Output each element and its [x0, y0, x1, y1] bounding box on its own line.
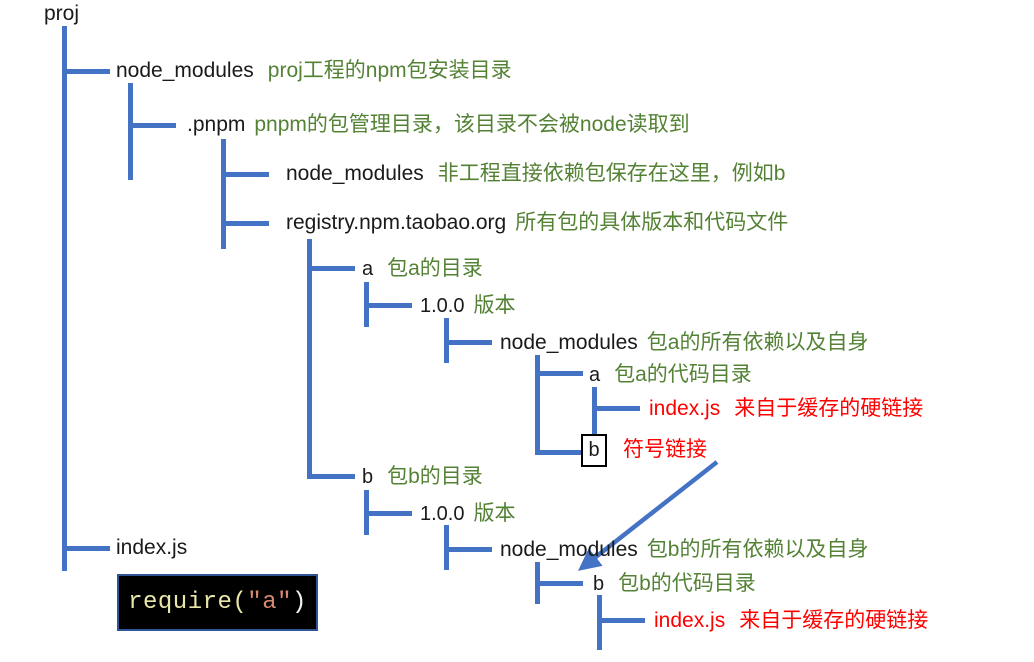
node-label-b-code: b	[593, 573, 604, 595]
tree-line-to-b-symlink	[535, 450, 583, 455]
tree-line-proj-trunk	[62, 26, 67, 571]
tree-line-to-index-b	[597, 618, 645, 623]
tree-line-to-a-code	[535, 371, 583, 376]
node-label-registry: registry.npm.taobao.org	[286, 211, 506, 234]
node-label-version-a: 1.0.0	[420, 295, 464, 317]
tree-node-b-code: b包b的代码目录	[593, 573, 756, 594]
tree-line-to-version-a	[364, 303, 412, 308]
tree-node-registry: registry.npm.taobao.org所有包的具体版本和代码文件	[286, 212, 788, 233]
node-label-node-modules-b: node_modules	[500, 538, 638, 561]
tree-line-registry-trunk	[307, 239, 312, 479]
tree-node-node-modules-pnpm: node_modules非工程直接依赖包保存在这里，例如b	[286, 163, 785, 184]
node-note-node-modules-b: 包b的所有依赖以及自身	[647, 538, 869, 561]
node-label-proj: proj	[44, 2, 79, 25]
tree-line-to-node-modules-root	[62, 69, 110, 74]
node-note-index-a: 来自于缓存的硬链接	[734, 397, 923, 420]
code-token-close-paren: )	[292, 589, 307, 616]
node-note-pnpm: pnpm的包管理目录，该目录不会被node读取到	[254, 113, 689, 136]
tree-line-to-node-modules-b	[444, 547, 492, 552]
tree-line-to-pnpm	[128, 123, 176, 128]
tree-node-proj: proj	[44, 3, 79, 24]
tree-node-pnpm: .pnpmpnpm的包管理目录，该目录不会被node读取到	[187, 114, 690, 135]
node-note-node-modules-root: proj工程的npm包安装目录	[268, 59, 512, 82]
tree-line-to-index-a	[592, 406, 640, 411]
node-note-version-a: 版本	[473, 294, 515, 317]
code-block-require: require("a")	[117, 574, 318, 631]
tree-line-to-node-modules-a	[444, 340, 492, 345]
node-label-index-root: index.js	[116, 536, 187, 559]
node-note-pkg-b: 包b的目录	[387, 465, 483, 488]
node-label-pkg-a: a	[362, 258, 373, 280]
node-note-b-symlink: 符号链接	[623, 438, 707, 461]
tree-node-version-b: 1.0.0版本	[420, 503, 515, 524]
node-label-index-b: index.js	[654, 609, 725, 632]
tree-node-b-symlink-note: 符号链接	[623, 439, 707, 460]
tree-node-index-a: index.js来自于缓存的硬链接	[649, 398, 923, 419]
node-label-a-code: a	[589, 364, 600, 386]
node-note-a-code: 包a的代码目录	[614, 363, 752, 386]
node-note-pkg-a: 包a的目录	[387, 257, 483, 280]
tree-node-node-modules-a: node_modules包a的所有依赖以及自身	[500, 332, 868, 353]
tree-node-version-a: 1.0.0版本	[420, 295, 515, 316]
tree-line-to-index-root	[62, 546, 110, 551]
node-label-pkg-b: b	[362, 466, 373, 488]
tree-node-a-code: a包a的代码目录	[589, 364, 752, 385]
node-label-index-a: index.js	[649, 397, 720, 420]
tree-node-pkg-b: b包b的目录	[362, 466, 483, 487]
tree-node-index-b: index.js来自于缓存的硬链接	[654, 610, 928, 631]
node-label-node-modules-a: node_modules	[500, 331, 638, 354]
tree-line-to-pkg-b	[307, 474, 355, 479]
code-token-string: "a"	[247, 589, 292, 616]
code-token-function: require(	[128, 589, 247, 616]
node-label-b-symlink: b	[588, 439, 599, 462]
node-note-version-b: 版本	[473, 502, 515, 525]
tree-line-to-pkg-a	[307, 266, 355, 271]
tree-line-to-node-modules-pnpm	[221, 172, 269, 177]
tree-line-to-registry	[221, 221, 269, 226]
node-label-pnpm: .pnpm	[187, 113, 245, 136]
tree-line-to-version-b	[364, 511, 412, 516]
tree-line-node-modules-a-trunk	[535, 355, 540, 455]
tree-line-pnpm-trunk	[221, 139, 226, 249]
tree-line-a-code-trunk	[592, 387, 597, 437]
tree-line-node-modules-root-trunk	[128, 83, 133, 180]
node-note-registry: 所有包的具体版本和代码文件	[515, 211, 788, 234]
node-note-b-code: 包b的代码目录	[618, 572, 756, 595]
node-note-index-b: 来自于缓存的硬链接	[739, 609, 928, 632]
tree-node-index-root: index.js	[116, 537, 187, 558]
node-note-node-modules-a: 包a的所有依赖以及自身	[647, 331, 869, 354]
node-label-version-b: 1.0.0	[420, 503, 464, 525]
tree-node-node-modules-b: node_modules包b的所有依赖以及自身	[500, 539, 868, 560]
node-note-node-modules-pnpm: 非工程直接依赖包保存在这里，例如b	[438, 162, 786, 185]
node-label-node-modules-pnpm: node_modules	[286, 162, 424, 185]
node-label-node-modules-root: node_modules	[116, 59, 254, 82]
tree-node-b-symlink-box: b	[581, 434, 607, 467]
pnpm-directory-tree-diagram: proj node_modulesproj工程的npm包安装目录 .pnpmpn…	[0, 0, 1034, 662]
tree-line-to-b-code	[535, 581, 583, 586]
tree-node-pkg-a: a包a的目录	[362, 258, 483, 279]
tree-node-node-modules-root: node_modulesproj工程的npm包安装目录	[116, 60, 512, 81]
